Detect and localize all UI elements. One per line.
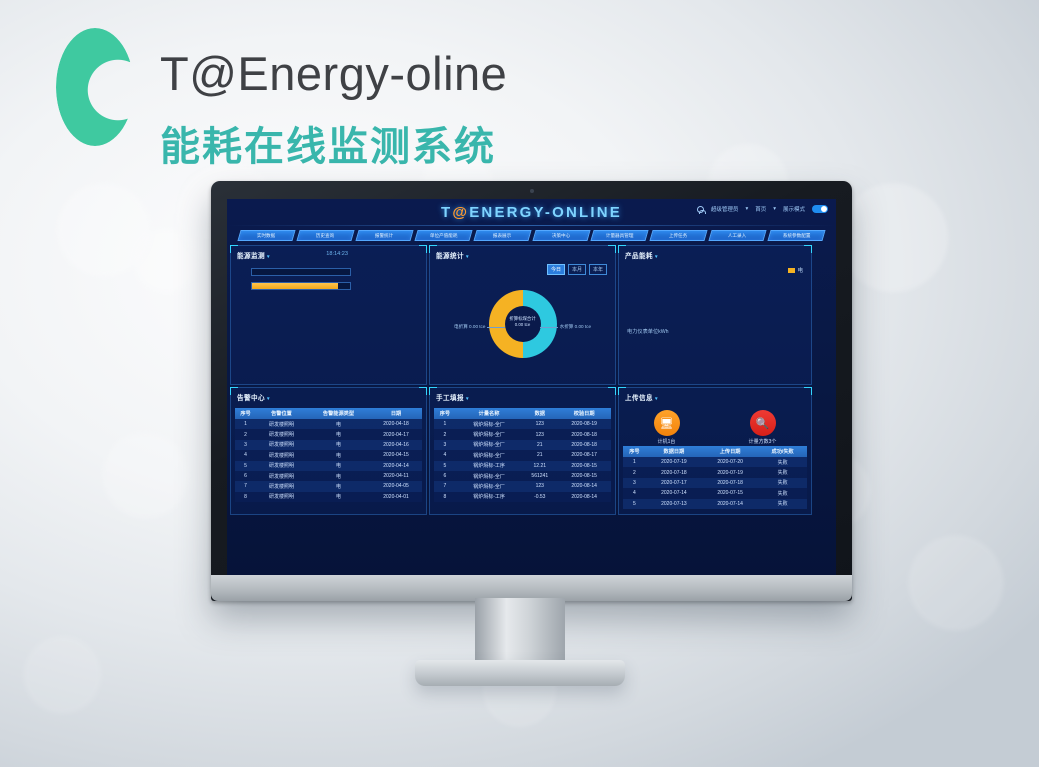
header-divider <box>227 225 836 226</box>
dashboard: T@ENERGY-ONLINE 超级管理员 ▾ 首页 ▾ 展示模式 实时数据历史… <box>227 199 836 575</box>
alarm-cell-0: 5 <box>235 461 256 471</box>
alarm-table: 序号告警位置告警能源类型日期 1研发楼照明电2020-04-182研发楼照明电2… <box>235 408 422 502</box>
monitor-bezel: T@ENERGY-ONLINE 超级管理员 ▾ 首页 ▾ 展示模式 实时数据历史… <box>211 181 852 601</box>
table-row[interactable]: 5锅炉焖标-工序12.212020-08-15 <box>434 461 611 471</box>
alarm-cell-2: 电 <box>307 429 370 439</box>
panel-title-upload-info: 上传信息▾ <box>625 392 658 402</box>
panel-title-manual-entry: 手工填报▾ <box>436 392 469 402</box>
manual-col-0: 序号 <box>434 408 456 419</box>
manual-cell-2: 21 <box>522 440 557 450</box>
manual-cell-0: 1 <box>434 419 456 429</box>
webcam-icon <box>530 189 534 193</box>
nav-item-label: 报表展示 <box>493 233 511 239</box>
table-row[interactable]: 2研发楼照明电2020-04-17 <box>235 429 422 439</box>
manual-cell-0: 7 <box>434 481 456 491</box>
user-name: 超级管理员 <box>711 205 739 213</box>
alarm-cell-3: 2020-04-15 <box>370 450 422 460</box>
table-row[interactable]: 42020-07-142020-07-15失败 <box>623 488 807 498</box>
upload-cell-2: 2020-07-14 <box>702 499 758 509</box>
manual-cell-1: 锅炉焖标-全厂 <box>456 440 522 450</box>
manual-cell-3: 2020-08-18 <box>557 429 611 439</box>
manual-cell-3: 2020-08-14 <box>557 492 611 502</box>
table-row[interactable]: 8锅炉焖标-工序-0.532020-08-14 <box>434 492 611 502</box>
upload-col-1: 数据日期 <box>646 446 702 457</box>
nav-item-9[interactable]: 系统参数配置 <box>768 230 826 241</box>
alarm-cell-1: 研发楼照明 <box>256 481 307 491</box>
alarm-cell-3: 2020-04-05 <box>370 481 422 491</box>
energy-row-water <box>239 268 355 276</box>
stat-tab-2[interactable]: 本年 <box>589 264 607 275</box>
manual-cell-2: -0.53 <box>522 492 557 502</box>
alarm-cell-3: 2020-04-14 <box>370 461 422 471</box>
manual-cell-3: 2020-08-19 <box>557 419 611 429</box>
table-row[interactable]: 1研发楼照明电2020-04-18 <box>235 419 422 429</box>
stat-tab-0[interactable]: 今日 <box>547 264 565 275</box>
chevron-down-icon[interactable]: ▾ <box>466 254 469 260</box>
monitor-mockup: T@ENERGY-ONLINE 超级管理员 ▾ 首页 ▾ 展示模式 实时数据历史… <box>211 181 852 601</box>
nav-item-6[interactable]: 计量器具管理 <box>591 230 649 241</box>
report-search-icon: 🔍 <box>750 410 776 436</box>
energy-bar-fill <box>252 283 338 289</box>
product-legend: 电 <box>788 266 803 274</box>
header-secondary-label[interactable]: 首页 <box>755 205 766 213</box>
stat-period-tabs: 今日本月本年 <box>547 264 607 275</box>
table-header-row: 序号计量名称数据校验日期 <box>434 408 611 419</box>
main-nav: 实时数据历史查询报警统计单位产值能耗报表展示决策中心计量器具管理上传任务人工录入… <box>239 230 824 241</box>
upload-cell-1: 2020-07-19 <box>646 457 702 467</box>
alarm-col-0: 序号 <box>235 408 256 419</box>
alarm-cell-1: 研发楼照明 <box>256 471 307 481</box>
nav-item-2[interactable]: 报警统计 <box>355 230 413 241</box>
manual-cell-3: 2020-08-15 <box>557 471 611 481</box>
manual-cell-1: 锅炉焖标-全厂 <box>456 481 522 491</box>
manual-cell-1: 锅炉焖标-全厂 <box>456 419 522 429</box>
alarm-cell-0: 7 <box>235 481 256 491</box>
chevron-down-icon[interactable]: ▾ <box>267 396 270 402</box>
manual-cell-1: 锅炉焖标-全厂 <box>456 471 522 481</box>
upload-cell-2: 2020-07-18 <box>702 478 758 488</box>
alarm-cell-2: 电 <box>307 492 370 502</box>
table-header-row: 序号告警位置告警能源类型日期 <box>235 408 422 419</box>
energy-bar-track <box>251 268 351 276</box>
nav-item-0[interactable]: 实时数据 <box>237 230 295 241</box>
panel-title-text: 产品能耗 <box>625 253 653 260</box>
panel-title-text: 上传信息 <box>625 395 653 402</box>
legend-swatch-icon <box>788 268 795 273</box>
display-mode-toggle[interactable] <box>812 205 828 213</box>
table-row[interactable]: 4锅炉焖标-全厂212020-08-17 <box>434 450 611 460</box>
panel-title-energy-monitor: 能源监测▾ <box>237 250 270 260</box>
panel-title-alarm-center: 告警中心▾ <box>237 392 270 402</box>
manual-cell-0: 4 <box>434 450 456 460</box>
product-axis-note: 电力仪表单位kWh <box>627 328 669 335</box>
alarm-cell-2: 电 <box>307 450 370 460</box>
chevron-down-icon[interactable]: ▾ <box>466 396 469 402</box>
at-logo-icon: @ <box>452 204 469 221</box>
table-row[interactable]: 8研发楼照明电2020-04-01 <box>235 492 422 502</box>
nav-item-label: 人工录入 <box>729 233 747 239</box>
table-row[interactable]: 5研发楼照明电2020-04-14 <box>235 461 422 471</box>
manual-cell-2: 12.21 <box>522 461 557 471</box>
nav-item-5[interactable]: 决策中心 <box>532 230 590 241</box>
nav-item-label: 计量器具管理 <box>606 233 634 239</box>
alarm-cell-3: 2020-04-17 <box>370 429 422 439</box>
manual-cell-3: 2020-08-18 <box>557 440 611 450</box>
manual-col-2: 数据 <box>522 408 557 419</box>
table-row[interactable]: 52020-07-132020-07-14失败 <box>623 499 807 509</box>
panel-title-text: 能源统计 <box>436 253 464 260</box>
alarm-cell-3: 2020-04-01 <box>370 492 422 502</box>
manual-cell-0: 3 <box>434 440 456 450</box>
manual-col-1: 计量名称 <box>456 408 522 419</box>
nav-item-label: 历史查询 <box>316 233 334 239</box>
nav-item-label: 上传任务 <box>670 233 688 239</box>
manual-cell-0: 8 <box>434 492 456 502</box>
upload-stat-label: 计量方数3个 <box>749 438 777 445</box>
nav-item-7[interactable]: 上传任务 <box>650 230 708 241</box>
chevron-down-icon[interactable]: ▾ <box>745 206 748 212</box>
alarm-cell-2: 电 <box>307 471 370 481</box>
monitor-timestamp: 18:14:23 <box>326 251 348 257</box>
manual-cell-2: 123 <box>522 419 557 429</box>
computer-icon: 🖥 <box>654 410 680 436</box>
upload-cell-0: 5 <box>623 499 646 509</box>
manual-cell-2: 21 <box>522 450 557 460</box>
donut-center-text: 折算标煤合计 0.00 tce <box>489 316 557 328</box>
upload-stat-label: 计机1台 <box>654 438 680 445</box>
alarm-cell-3: 2020-04-16 <box>370 440 422 450</box>
table-row[interactable]: 22020-07-182020-07-19失败 <box>623 467 807 477</box>
manual-cell-0: 6 <box>434 471 456 481</box>
alarm-cell-2: 电 <box>307 419 370 429</box>
upload-col-2: 上传日期 <box>702 446 758 457</box>
alarm-cell-1: 研发楼照明 <box>256 461 307 471</box>
alarm-cell-2: 电 <box>307 440 370 450</box>
manual-table: 序号计量名称数据校验日期 1锅炉焖标-全厂1232020-08-192锅炉焖标-… <box>434 408 611 502</box>
alarm-cell-2: 电 <box>307 461 370 471</box>
nav-item-label: 实时数据 <box>257 233 275 239</box>
upload-cell-3: 失败 <box>758 467 807 477</box>
chevron-down-icon[interactable]: ▾ <box>267 254 270 260</box>
manual-cell-0: 2 <box>434 429 456 439</box>
alarm-cell-2: 电 <box>307 481 370 491</box>
manual-cell-3: 2020-08-14 <box>557 481 611 491</box>
panel-alarm-center: 告警中心▾ 序号告警位置告警能源类型日期 1研发楼照明电2020-04-182研… <box>230 387 427 515</box>
panel-title-text: 告警中心 <box>237 395 265 402</box>
upload-cell-1: 2020-07-13 <box>646 499 702 509</box>
upload-cell-0: 3 <box>623 478 646 488</box>
upload-cell-2: 2020-07-15 <box>702 488 758 498</box>
panel-title-text: 手工填报 <box>436 395 464 402</box>
manual-cell-1: 锅炉焖标-全厂 <box>456 450 522 460</box>
upload-cell-0: 4 <box>623 488 646 498</box>
manual-cell-1: 锅炉焖标-工序 <box>456 492 522 502</box>
chevron-down-icon[interactable]: ▾ <box>655 254 658 260</box>
chevron-down-icon[interactable]: ▾ <box>655 396 658 402</box>
upload-stat-1[interactable]: 🔍计量方数3个 <box>749 410 777 445</box>
alarm-col-3: 日期 <box>370 408 422 419</box>
nav-item-8[interactable]: 人工录入 <box>709 230 767 241</box>
manual-col-3: 校验日期 <box>557 408 611 419</box>
panel-energy-monitor: 能源监测▾ 18:14:23 <box>230 245 427 385</box>
table-row[interactable]: 4研发楼照明电2020-04-15 <box>235 450 422 460</box>
brand-block: T@Energy-oline 能耗在线监测系统 <box>48 22 568 158</box>
logo-c-icon <box>56 28 134 146</box>
nav-item-label: 系统参数配置 <box>783 233 811 239</box>
upload-cell-3: 失败 <box>758 488 807 498</box>
nav-item-label: 报警统计 <box>375 233 393 239</box>
dashboard-title-left: T <box>441 204 452 221</box>
nav-item-1[interactable]: 历史查询 <box>296 230 354 241</box>
nav-item-4[interactable]: 报表展示 <box>473 230 531 241</box>
table-row[interactable]: 1锅炉焖标-全厂1232020-08-19 <box>434 419 611 429</box>
monitor-base <box>415 660 625 686</box>
manual-cell-1: 锅炉焖标-工序 <box>456 461 522 471</box>
chevron-down-icon-2[interactable]: ▾ <box>773 206 776 212</box>
table-row[interactable]: 12020-07-192020-07-20失败 <box>623 457 807 467</box>
manual-cell-2: 123 <box>522 481 557 491</box>
dashboard-title-right: ENERGY-ONLINE <box>469 204 622 221</box>
upload-cell-2: 2020-07-20 <box>702 457 758 467</box>
panel-title-text: 能源监测 <box>237 253 265 260</box>
upload-cell-2: 2020-07-19 <box>702 467 758 477</box>
manual-cell-2: 123 <box>522 429 557 439</box>
table-row[interactable]: 3研发楼照明电2020-04-16 <box>235 440 422 450</box>
table-row[interactable]: 7锅炉焖标-全厂1232020-08-14 <box>434 481 611 491</box>
panel-title-energy-statistics: 能源统计▾ <box>436 250 469 260</box>
energy-bar-track <box>251 282 351 290</box>
alarm-col-2: 告警能源类型 <box>307 408 370 419</box>
alarm-cell-0: 8 <box>235 492 256 502</box>
alarm-cell-0: 6 <box>235 471 256 481</box>
upload-stat-icons: 🖥计机1台🔍计量方数3个 <box>619 410 811 445</box>
panel-product-energy: 产品能耗▾ 电 电力仪表单位kWh <box>618 245 812 385</box>
table-header-row: 序号数据日期上传日期成功/失败 <box>623 446 807 457</box>
panel-title-product-energy: 产品能耗▾ <box>625 250 658 260</box>
donut-label-left: 电折算 0.00 tce <box>454 324 485 330</box>
manual-cell-2: 561241 <box>522 471 557 481</box>
upload-cell-0: 1 <box>623 457 646 467</box>
table-row[interactable]: 6研发楼照明电2020-04-11 <box>235 471 422 481</box>
manual-cell-0: 5 <box>434 461 456 471</box>
upload-col-0: 序号 <box>623 446 646 457</box>
alarm-col-1: 告警位置 <box>256 408 307 419</box>
user-icon <box>697 206 704 213</box>
manual-cell-3: 2020-08-17 <box>557 450 611 460</box>
nav-item-3[interactable]: 单位产值能耗 <box>414 230 472 241</box>
upload-col-3: 成功/失败 <box>758 446 807 457</box>
table-row[interactable]: 32020-07-172020-07-18失败 <box>623 478 807 488</box>
table-row[interactable]: 3锅炉焖标-全厂212020-08-18 <box>434 440 611 450</box>
upload-cell-1: 2020-07-17 <box>646 478 702 488</box>
nav-item-label: 单位产值能耗 <box>429 233 457 239</box>
display-mode-label: 展示模式 <box>783 205 805 213</box>
page-title: T@Energy-oline <box>160 46 507 101</box>
upload-table: 序号数据日期上传日期成功/失败 12020-07-192020-07-20失败2… <box>623 446 807 509</box>
donut-ring: 折算标煤合计 0.00 tce <box>489 290 557 358</box>
upload-cell-3: 失败 <box>758 457 807 467</box>
energy-row-electricity <box>239 282 355 290</box>
alarm-cell-1: 研发楼照明 <box>256 419 307 429</box>
donut-label-right: 水折算 0.00 tce <box>560 324 591 330</box>
alarm-cell-0: 4 <box>235 450 256 460</box>
alarm-cell-1: 研发楼照明 <box>256 450 307 460</box>
panel-upload-info: 上传信息▾ 🖥计机1台🔍计量方数3个 序号数据日期上传日期成功/失败 12020… <box>618 387 812 515</box>
manual-cell-3: 2020-08-15 <box>557 461 611 471</box>
alarm-cell-3: 2020-04-18 <box>370 419 422 429</box>
panel-energy-statistics: 能源统计▾ 今日本月本年 折算标煤合计 0.00 tce 电折算 0.00 tc… <box>429 245 616 385</box>
table-row[interactable]: 6锅炉焖标-全厂5612412020-08-15 <box>434 471 611 481</box>
legend-label: 电 <box>798 266 803 274</box>
stat-tab-1[interactable]: 本月 <box>568 264 586 275</box>
upload-cell-0: 2 <box>623 467 646 477</box>
upload-cell-3: 失败 <box>758 499 807 509</box>
panel-manual-entry: 手工填报▾ 序号计量名称数据校验日期 1锅炉焖标-全厂1232020-08-19… <box>429 387 616 515</box>
alarm-cell-0: 1 <box>235 419 256 429</box>
upload-cell-1: 2020-07-18 <box>646 467 702 477</box>
alarm-cell-0: 3 <box>235 440 256 450</box>
page-subtitle: 能耗在线监测系统 <box>160 114 496 172</box>
manual-cell-1: 锅炉焖标-全厂 <box>456 429 522 439</box>
upload-cell-3: 失败 <box>758 478 807 488</box>
monitor-screen: T@ENERGY-ONLINE 超级管理员 ▾ 首页 ▾ 展示模式 实时数据历史… <box>227 199 836 575</box>
alarm-cell-1: 研发楼照明 <box>256 429 307 439</box>
header-user-area[interactable]: 超级管理员 ▾ 首页 ▾ 展示模式 <box>697 205 828 213</box>
upload-stat-0[interactable]: 🖥计机1台 <box>654 410 680 445</box>
upload-cell-1: 2020-07-14 <box>646 488 702 498</box>
donut-center-value: 0.00 tce <box>489 322 557 328</box>
alarm-cell-1: 研发楼照明 <box>256 492 307 502</box>
alarm-cell-0: 2 <box>235 429 256 439</box>
table-row[interactable]: 7研发楼照明电2020-04-05 <box>235 481 422 491</box>
nav-item-label: 决策中心 <box>552 233 570 239</box>
alarm-cell-1: 研发楼照明 <box>256 440 307 450</box>
table-row[interactable]: 2锅炉焖标-全厂1232020-08-18 <box>434 429 611 439</box>
alarm-cell-3: 2020-04-11 <box>370 471 422 481</box>
